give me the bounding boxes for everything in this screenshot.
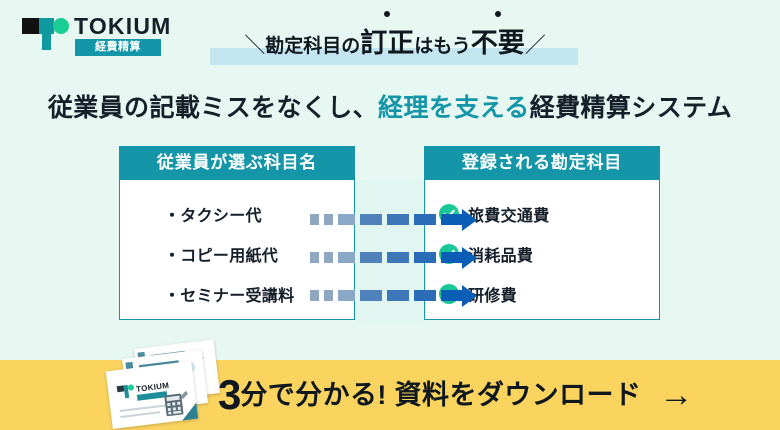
logo-stem-shape	[42, 18, 51, 50]
banner: TOKIUM 経費精算 ＼勘定科目の訂正はもう不要／ 従業員の記載ミスをなくし、…	[0, 0, 780, 430]
list-item-label: ・タクシー代	[164, 202, 262, 226]
tokium-logo-icon	[22, 14, 68, 50]
subheadline-accent: 経理を支える	[378, 94, 530, 122]
headline-emphasis-2: 不要	[471, 28, 525, 58]
brand-name: TOKIUM	[74, 14, 172, 38]
cta-text-main: 分で分かる! 資料をダウンロード	[240, 380, 641, 410]
headline-part-1: 勘定科目の	[265, 36, 360, 57]
brand-logo: TOKIUM 経費精算	[22, 14, 162, 62]
dashed-arrow-right-icon	[310, 290, 475, 301]
brand-badge: 経費精算	[75, 39, 161, 56]
list-item-label: ・コピー用紙代	[164, 242, 278, 266]
document-corner-accent	[180, 403, 198, 421]
headline-emphasis-1: 訂正	[360, 28, 414, 58]
document-stack-icon: TOKIUM	[103, 344, 221, 428]
cta-number: 3	[218, 374, 240, 416]
cta-label[interactable]: 3 分で分かる! 資料をダウンロード →	[218, 360, 688, 430]
document-logo-icon	[117, 384, 134, 399]
list-item-label: ・セミナー受講料	[164, 282, 294, 306]
headline-text: ＼勘定科目の訂正はもう不要／	[205, 22, 585, 68]
headline: ＼勘定科目の訂正はもう不要／	[205, 22, 585, 66]
dashed-arrow-right-icon	[310, 214, 475, 225]
arrow-right-icon: →	[659, 378, 693, 412]
logo-dot-shape	[53, 18, 69, 34]
dashed-arrow-right-icon	[310, 252, 475, 263]
list-item-label: 旅費交通費	[468, 202, 550, 226]
registered-account-panel-header: 登録される勘定科目	[424, 146, 660, 180]
subheadline-part-1: 従業員の記載ミスをなくし、	[48, 94, 378, 122]
list-item-label: 消耗品費	[468, 242, 533, 266]
headline-part-3: はもう	[414, 36, 470, 57]
document-thumbnail-front: TOKIUM	[106, 361, 198, 429]
headline-slash-left: ＼	[244, 25, 265, 67]
headline-slash-right: ／	[525, 25, 546, 67]
employee-category-panel-header: 従業員が選ぶ科目名	[119, 146, 355, 180]
subheadline: 従業員の記載ミスをなくし、経理を支える経費精算システム	[0, 88, 780, 124]
subheadline-part-2: 経費精算システム	[530, 94, 732, 122]
